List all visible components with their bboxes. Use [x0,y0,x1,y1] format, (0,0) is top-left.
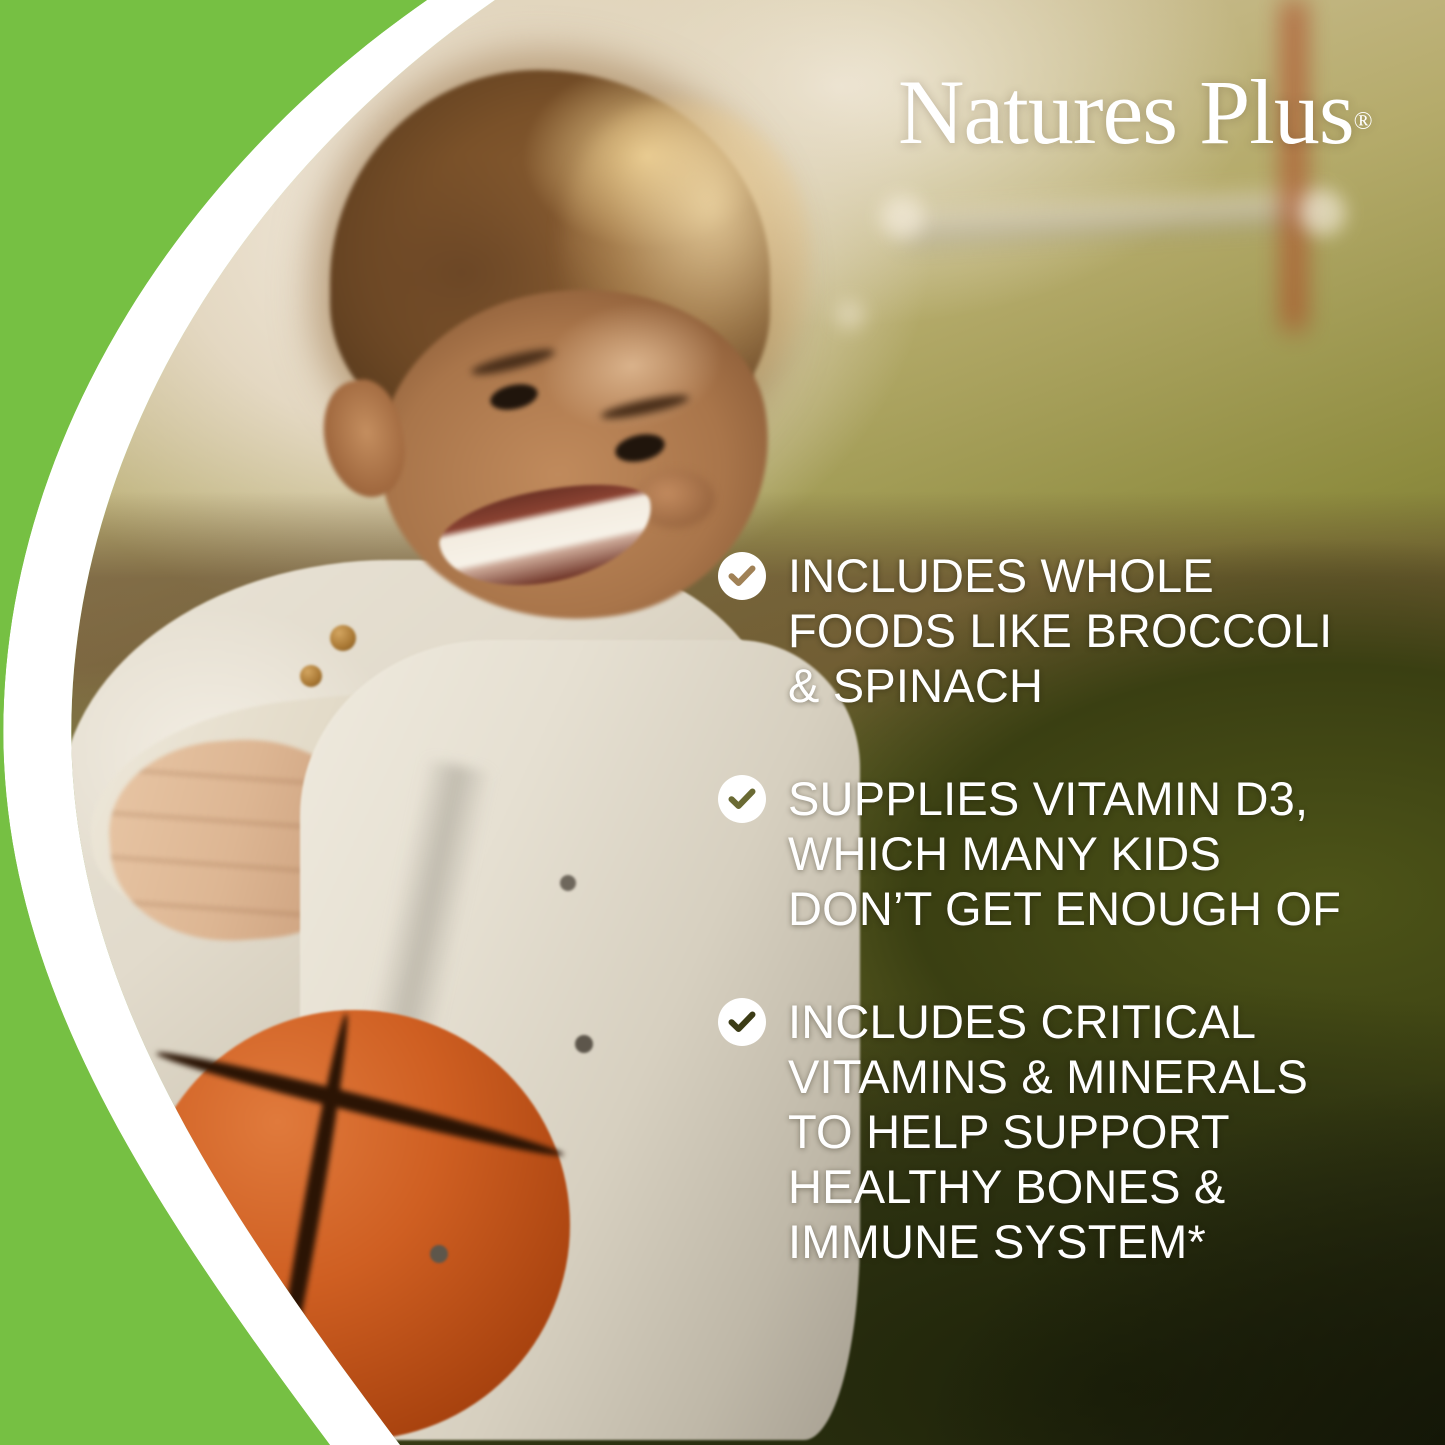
brand-logo-text: Natures Plus [898,61,1354,163]
garment-snap [430,1245,448,1263]
check-circle-icon [718,775,766,823]
garment-snap [560,875,576,891]
product-feature-banner: Natures Plus® INCLUDES WHOLE FOODS LIKE … [0,0,1445,1445]
bokeh-dot [835,300,865,330]
check-circle-icon [718,552,766,600]
check-circle-icon [718,998,766,1046]
list-item-label: INCLUDES WHOLE FOODS LIKE BROCCOLI & SPI… [788,548,1332,713]
garment-button [300,665,322,687]
list-item-label: SUPPLIES VITAMIN D3, WHICH MANY KIDS DON… [788,771,1341,936]
playground-pole-prop [1284,0,1304,330]
list-item-label: INCLUDES CRITICAL VITAMINS & MINERALS TO… [788,994,1308,1269]
garment-snap [575,1035,593,1053]
bokeh-dot [880,195,924,239]
garment-button [330,625,356,651]
bokeh-dot [1300,190,1346,236]
list-item: INCLUDES WHOLE FOODS LIKE BROCCOLI & SPI… [718,548,1418,713]
basketball [140,1010,570,1440]
list-item: SUPPLIES VITAMIN D3, WHICH MANY KIDS DON… [718,771,1418,936]
registered-trademark-icon: ® [1354,108,1373,135]
brand-logo: Natures Plus® [898,66,1373,158]
list-item: INCLUDES CRITICAL VITAMINS & MINERALS TO… [718,994,1418,1269]
playground-tire-prop [0,0,250,90]
feature-bullet-list: INCLUDES WHOLE FOODS LIKE BROCCOLI & SPI… [718,548,1418,1315]
